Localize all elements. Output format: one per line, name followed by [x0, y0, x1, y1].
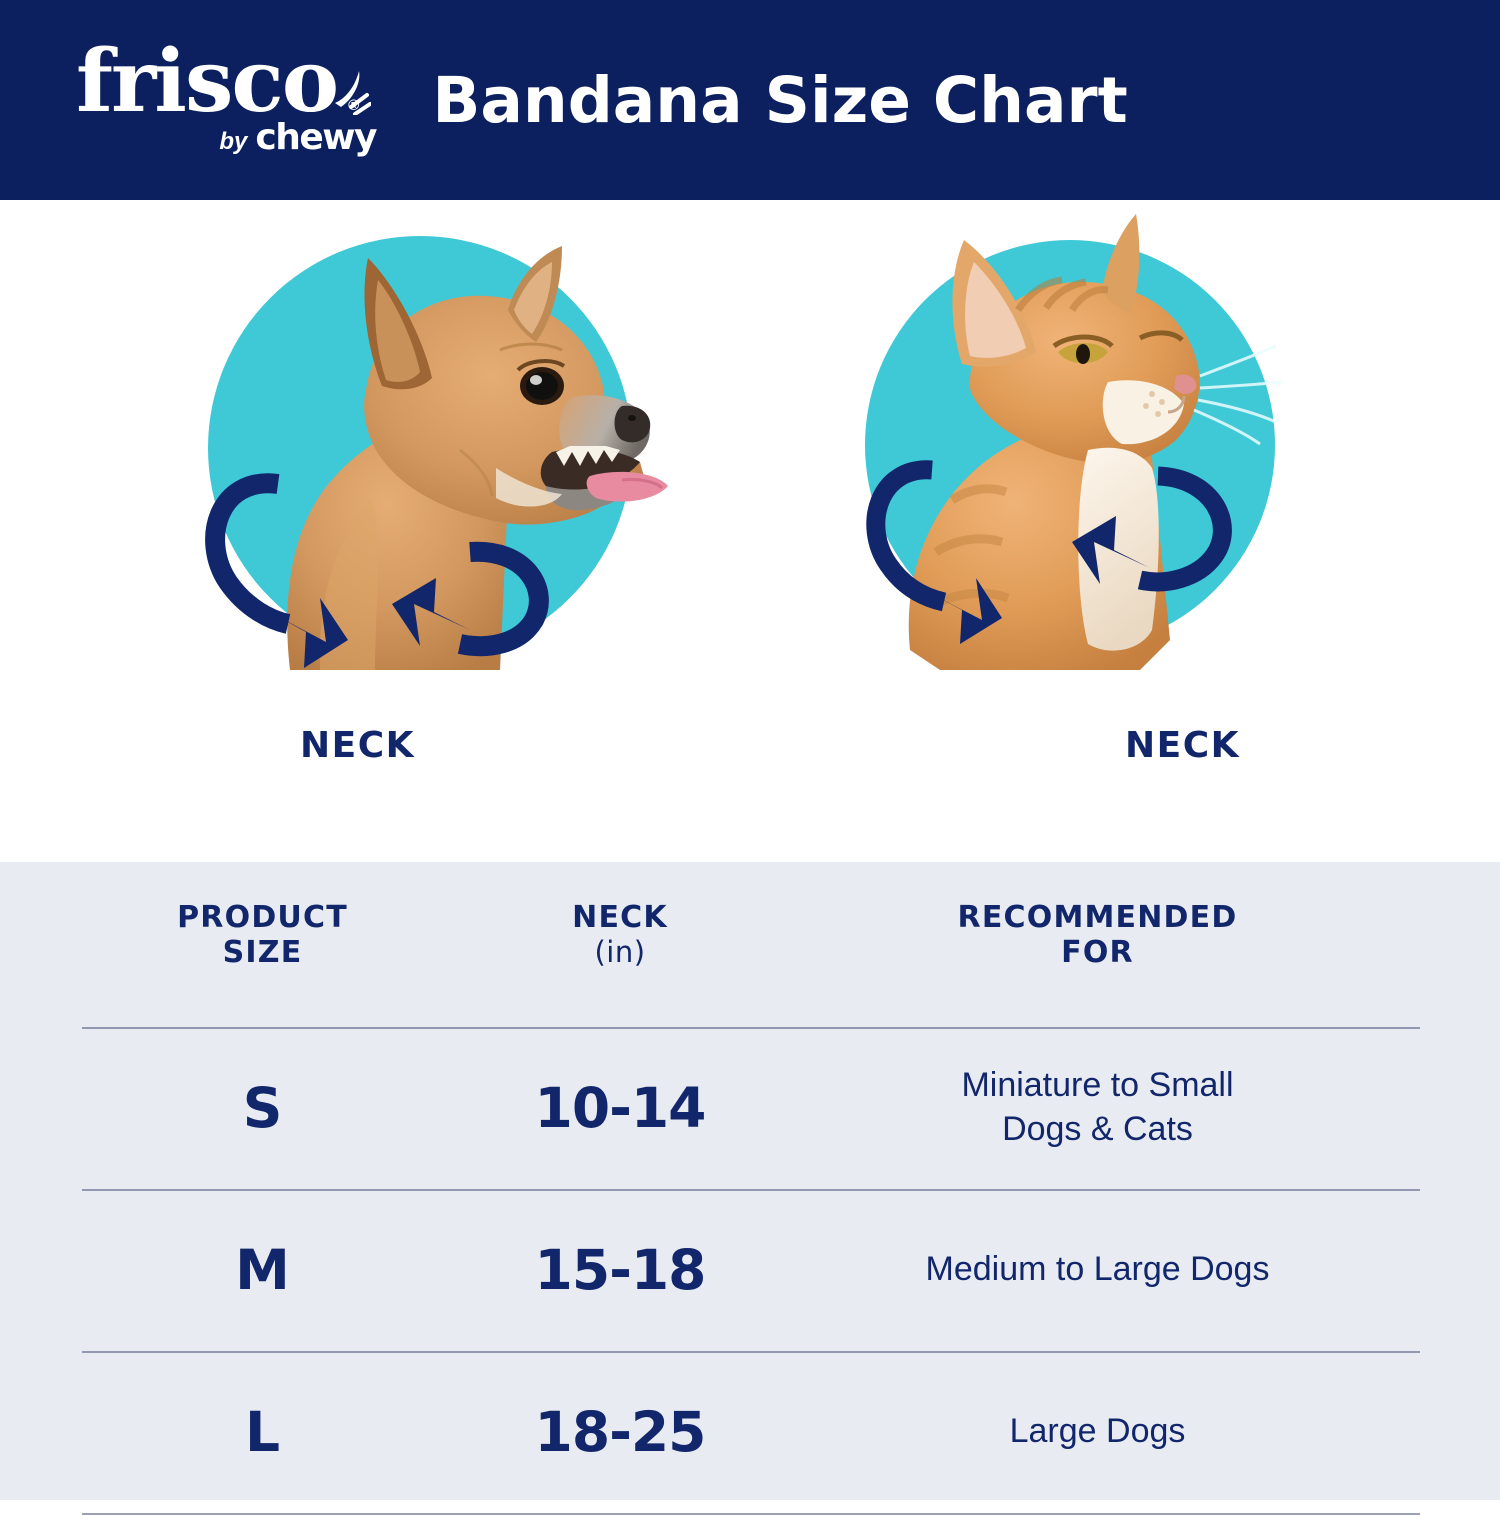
size-table-area: PRODUCT SIZE NECK (in) RECOMMENDED FOR — [0, 862, 1500, 1500]
row-neck-value: 10-14 — [445, 1076, 795, 1140]
row-neck-value: 18-25 — [445, 1400, 795, 1464]
table-row: L 18-25 Large Dogs — [0, 1351, 1500, 1513]
illustration-area: NECK — [0, 200, 1500, 862]
row-size-value: L — [80, 1400, 445, 1464]
row-divider — [82, 1027, 1420, 1029]
table-row: S 10-14 Miniature to Small Dogs & Cats — [0, 1027, 1500, 1189]
header-neck-line1: NECK — [572, 900, 668, 935]
row-recommended-value: Medium to Large Dogs — [795, 1248, 1400, 1292]
page-title: Bandana Size Chart — [0, 0, 1500, 200]
table-row: M 15-18 Medium to Large Dogs — [0, 1189, 1500, 1351]
row-recommended-value: Large Dogs — [795, 1410, 1400, 1454]
row-size-value: M — [80, 1238, 445, 1302]
header-recommended-line2: FOR — [1061, 935, 1134, 970]
row-neck-value: 15-18 — [445, 1238, 795, 1302]
row-divider — [82, 1189, 1420, 1191]
dog-illustration-block: NECK — [170, 200, 670, 800]
row-size-value: S — [80, 1076, 445, 1140]
cat-measure-graphic — [840, 200, 1300, 720]
size-table: PRODUCT SIZE NECK (in) RECOMMENDED FOR — [0, 862, 1500, 1515]
size-chart-page: frisco ® by chewy Bandana Size Chart — [0, 0, 1500, 1500]
dog-neck-label: NECK — [300, 725, 415, 766]
header-neck: NECK (in) — [445, 900, 795, 970]
row-divider — [82, 1351, 1420, 1353]
header-band: frisco ® by chewy Bandana Size Chart — [0, 0, 1500, 200]
header-product-size-line2: SIZE — [223, 935, 303, 970]
header-recommended-line1: RECOMMENDED — [958, 900, 1238, 935]
cat-stage — [840, 200, 1300, 720]
table-header-row: PRODUCT SIZE NECK (in) RECOMMENDED FOR — [0, 862, 1500, 1027]
cat-illustration-block: NECK — [840, 200, 1300, 800]
header-product-size-line1: PRODUCT — [177, 900, 348, 935]
dog-stage — [170, 200, 670, 720]
cat-neck-label: NECK — [1125, 725, 1240, 766]
dog-measure-graphic — [170, 200, 670, 720]
row-recommended-value: Miniature to Small Dogs & Cats — [795, 1064, 1400, 1151]
header-recommended-for: RECOMMENDED FOR — [795, 900, 1400, 971]
header-neck-units: (in) — [572, 935, 668, 969]
header-product-size: PRODUCT SIZE — [80, 900, 445, 971]
